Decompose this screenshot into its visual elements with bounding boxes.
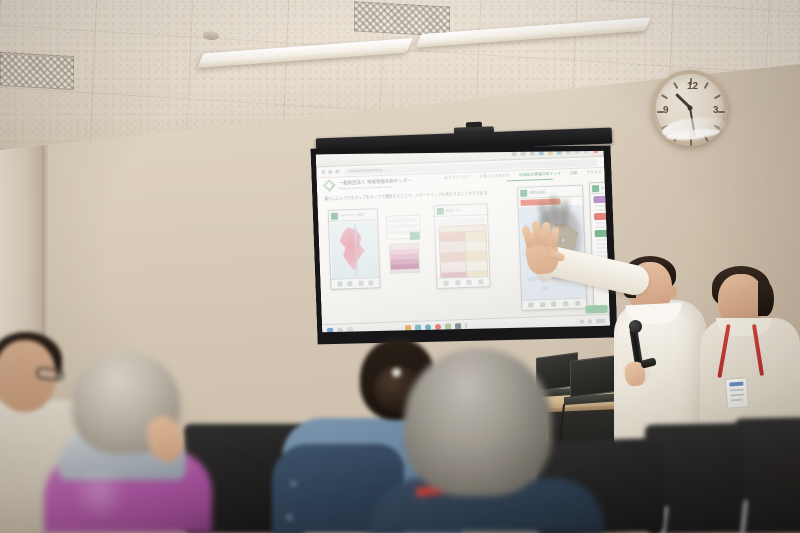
network-icon[interactable] — [580, 319, 584, 323]
home-icon[interactable] — [337, 281, 342, 286]
gear-icon[interactable] — [566, 149, 571, 154]
reload-icon[interactable] — [335, 170, 339, 174]
presenter2-hair-side — [758, 282, 774, 316]
location-icon[interactable] — [467, 280, 472, 285]
risk-table-panel[interactable]: 危険度一覧 — [434, 203, 491, 289]
hazard-map-panel[interactable]: ハザードマップ表示 — [328, 208, 381, 290]
panel-bottom-nav[interactable] — [331, 277, 379, 289]
link-icon[interactable] — [575, 148, 580, 153]
folder-icon[interactable] — [405, 324, 411, 330]
download-icon[interactable] — [521, 150, 526, 155]
forward-icon[interactable] — [328, 170, 332, 174]
projector-screen: chiiki-johou-kyousou.jp 一般財団法人 地域情報共創センタ… — [316, 133, 618, 345]
circle-icon[interactable] — [584, 148, 589, 153]
hand-shadow-finger — [559, 199, 570, 228]
chrome-icon[interactable] — [435, 323, 441, 329]
layers-icon[interactable] — [348, 281, 353, 286]
legend-panel — [384, 210, 426, 275]
presenter-ear — [668, 286, 677, 299]
volume-icon[interactable] — [588, 319, 592, 323]
panel-bottom-nav[interactable] — [437, 276, 489, 288]
person-icon[interactable] — [548, 149, 553, 154]
diamond-logo-icon — [323, 179, 336, 192]
site-logo[interactable]: 一般財団法人 地域情報共創センター Regional Information C… — [323, 176, 413, 192]
smoke-detector-icon — [203, 31, 219, 41]
layers-icon[interactable] — [455, 280, 460, 285]
app-logo-icon — [331, 212, 338, 219]
nav-item-4[interactable]: アクセス — [586, 170, 601, 176]
windows-taskbar[interactable] — [322, 314, 610, 337]
panel-bottom-nav[interactable] — [522, 298, 586, 310]
app-logo-icon — [437, 207, 444, 214]
edge-icon[interactable] — [425, 324, 431, 330]
menu-icon[interactable] — [563, 301, 568, 306]
panel-header: お知らせ一覧 — [590, 181, 610, 194]
alert-level4[interactable] — [594, 212, 610, 221]
site-lead-text: 暮らしにいつでもマップをタップで選択することで、ハザードマップを表示することがで… — [324, 190, 499, 203]
hazard-map-canvas[interactable] — [330, 221, 380, 279]
clock-numeral-3: 3 — [713, 105, 719, 116]
coat-button — [286, 514, 293, 521]
photo-icon[interactable] — [445, 323, 451, 329]
clock-taskbar[interactable] — [596, 318, 605, 322]
audience-hair-texture — [404, 348, 552, 496]
hair-clip-icon — [392, 368, 401, 377]
wall-clock: 12 3 6 9 — [652, 70, 728, 146]
nav-item-1[interactable]: お客さんお知らせ — [480, 173, 510, 179]
legend-swatch-scale — [389, 243, 420, 274]
back-icon[interactable] — [321, 170, 325, 174]
alert-level3[interactable] — [593, 195, 610, 204]
panel-header: 危険度一覧 — [435, 204, 487, 217]
panel-title: 避難指示情報 — [529, 190, 545, 195]
jacket-highlight — [70, 462, 128, 522]
id-badge — [725, 377, 749, 408]
nav-item-2[interactable]: 地域防災情報共有マップ — [519, 171, 561, 178]
location-icon[interactable] — [358, 281, 363, 286]
clock-center-pin — [688, 106, 693, 111]
floating-action-button[interactable] — [585, 305, 607, 314]
ceiling-vent-left — [0, 52, 74, 90]
search-icon[interactable] — [337, 327, 343, 333]
star-icon[interactable] — [557, 149, 562, 154]
clock-face: 12 3 6 9 — [652, 70, 728, 146]
screen-frame: chiiki-johou-kyousou.jp 一般財団法人 地域情報共創センタ… — [310, 138, 617, 349]
clock-numeral-12: 12 — [687, 81, 698, 92]
panel-title: お知らせ一覧 — [601, 185, 610, 190]
photo-scene: 12 3 6 9 — [0, 0, 800, 533]
coat-button — [290, 480, 297, 487]
panel-title: 危険度一覧 — [446, 208, 460, 212]
legend-box — [386, 215, 421, 240]
home-icon[interactable] — [444, 281, 449, 286]
taskview-icon[interactable] — [347, 327, 353, 333]
search-field[interactable] — [437, 217, 485, 225]
settings-icon[interactable] — [575, 301, 580, 306]
start-icon[interactable] — [327, 327, 333, 333]
menu-icon[interactable] — [478, 279, 483, 284]
menu-icon[interactable] — [369, 280, 374, 285]
grid-icon[interactable] — [539, 150, 544, 155]
clock-numeral-9: 9 — [663, 105, 669, 116]
profile-icon[interactable] — [593, 147, 599, 153]
panel-header: ハザードマップ表示 — [329, 209, 377, 222]
app-logo-icon — [592, 185, 599, 192]
divider — [465, 322, 467, 328]
screen-surface: chiiki-johou-kyousou.jp 一般財団法人 地域情報共創センタ… — [316, 144, 610, 336]
alert-cleared[interactable] — [595, 229, 611, 238]
flood-hazard-overlay — [336, 226, 370, 273]
app-logo-icon — [520, 189, 527, 196]
store-icon[interactable] — [455, 323, 461, 329]
panel-title: ハザードマップ表示 — [340, 213, 364, 218]
nav-item-3[interactable]: 活動 — [570, 171, 578, 176]
shield-icon[interactable] — [512, 151, 517, 156]
nav-item-0[interactable]: 私たちについて — [444, 175, 471, 181]
legend-green-swatch — [410, 232, 420, 240]
home-icon[interactable] — [529, 302, 534, 307]
risk-table — [438, 224, 488, 278]
bookmark-icon[interactable] — [530, 150, 535, 155]
mail-icon[interactable] — [415, 324, 421, 330]
layers-icon[interactable] — [540, 302, 545, 307]
nav-active-underline — [507, 179, 553, 182]
location-icon[interactable] — [552, 302, 557, 307]
ceiling-vent-center — [354, 1, 450, 36]
